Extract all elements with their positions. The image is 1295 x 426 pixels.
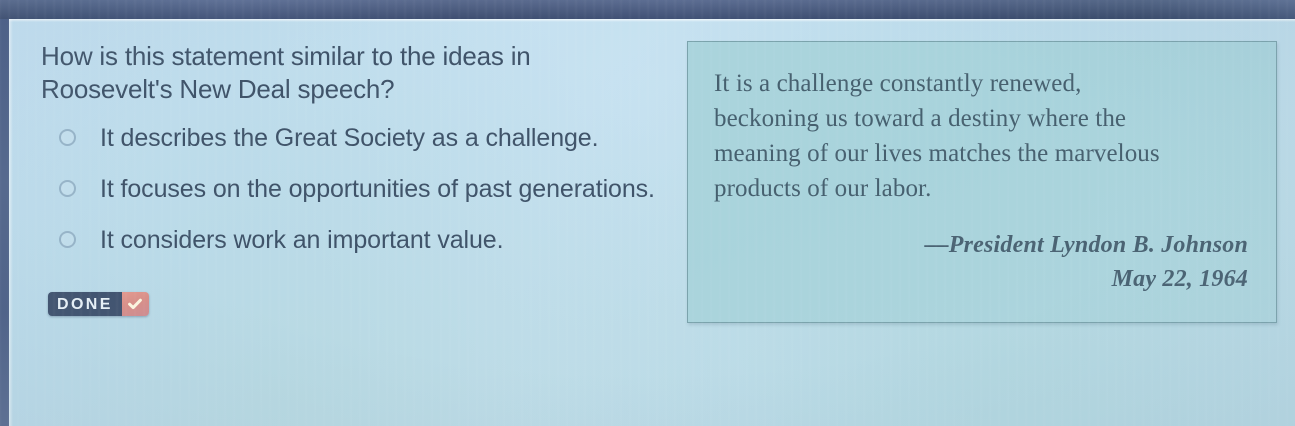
screen: How is this statement similar to the ide… (0, 0, 1295, 426)
option-label-a[interactable]: It describes the Great Society as a chal… (100, 122, 598, 155)
question-line-1: How is this statement similar to the ide… (41, 40, 681, 73)
quote-attribution: —President Lyndon B. Johnson May 22, 196… (714, 228, 1250, 296)
attribution-date: May 22, 1964 (714, 262, 1248, 296)
done-button[interactable]: DONE (48, 292, 149, 316)
option-row-a[interactable]: It describes the Great Society as a chal… (41, 122, 681, 155)
left-edge-highlight (9, 19, 13, 426)
option-row-b[interactable]: It focuses on the opportunities of past … (41, 173, 681, 206)
radio-button-c[interactable] (59, 231, 76, 248)
quote-panel: It is a challenge constantly renewed, be… (687, 41, 1277, 323)
top-bar-sheen (0, 0, 1295, 19)
question-line-2: Roosevelt's New Deal speech? (41, 73, 681, 106)
done-button-label: DONE (48, 292, 122, 316)
check-icon (122, 292, 149, 316)
question-block: How is this statement similar to the ide… (41, 40, 681, 106)
quote-line-1: It is a challenge constantly renewed, (714, 66, 1250, 101)
quote-line-2: beckoning us toward a destiny where the (714, 101, 1250, 136)
top-bar-edge-highlight (0, 19, 1295, 22)
left-edge-strip (0, 19, 9, 426)
answer-options-list: It describes the Great Society as a chal… (41, 122, 681, 275)
radio-button-a[interactable] (59, 129, 76, 146)
quote-line-4: products of our labor. (714, 171, 1250, 206)
radio-button-b[interactable] (59, 180, 76, 197)
quote-line-3: meaning of our lives matches the marvelo… (714, 136, 1250, 171)
attribution-speaker: —President Lyndon B. Johnson (714, 228, 1248, 262)
option-label-b[interactable]: It focuses on the opportunities of past … (100, 173, 655, 206)
top-bar (0, 0, 1295, 19)
option-row-c[interactable]: It considers work an important value. (41, 224, 681, 257)
option-label-c[interactable]: It considers work an important value. (100, 224, 503, 257)
